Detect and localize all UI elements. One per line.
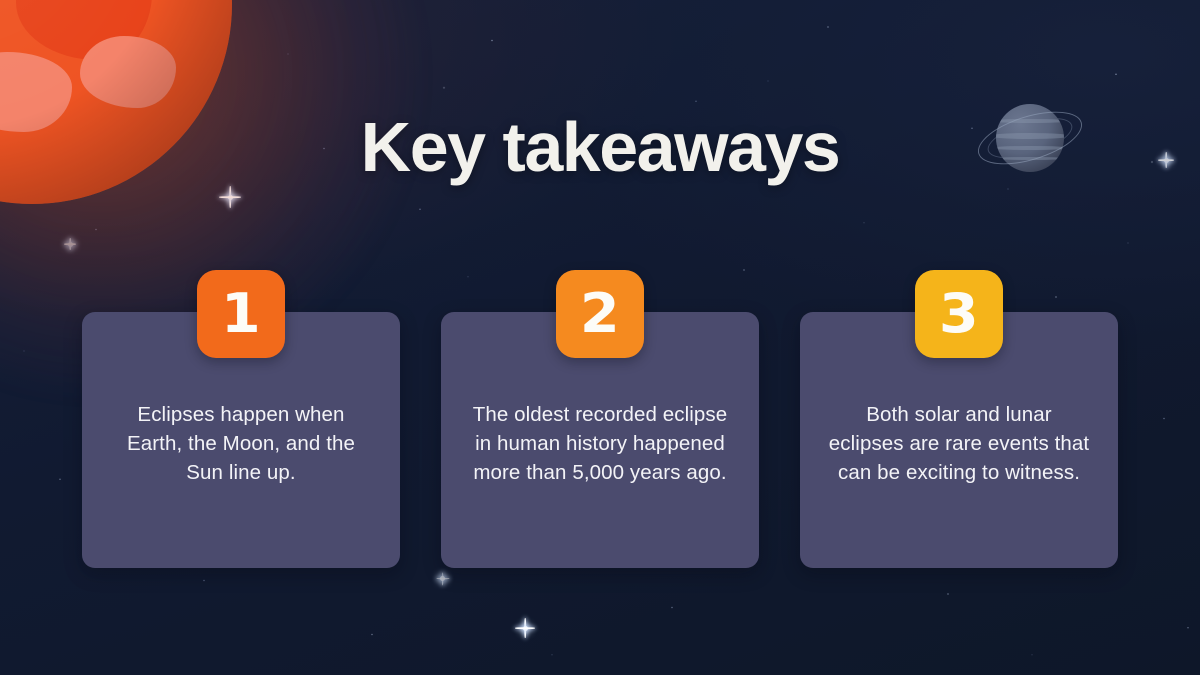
sparkle-star-icon <box>64 238 76 250</box>
card-body-text: The oldest recorded eclipse in human his… <box>467 400 733 487</box>
card-number-badge: 2 <box>556 270 644 358</box>
slide-canvas: Key takeaways 1 Eclipses happen when Ear… <box>0 0 1200 675</box>
sparkle-star-icon <box>219 186 241 208</box>
takeaway-card: 1 Eclipses happen when Earth, the Moon, … <box>82 312 400 568</box>
card-number: 2 <box>580 287 621 341</box>
page-title: Key takeaways <box>0 112 1200 182</box>
card-body-text: Eclipses happen when Earth, the Moon, an… <box>108 400 374 487</box>
card-number-badge: 1 <box>197 270 285 358</box>
takeaway-card: 2 The oldest recorded eclipse in human h… <box>441 312 759 568</box>
card-number: 1 <box>221 287 262 341</box>
takeaway-card-list: 1 Eclipses happen when Earth, the Moon, … <box>82 312 1118 568</box>
sparkle-star-icon <box>515 618 535 638</box>
card-body-text: Both solar and lunar eclipses are rare e… <box>826 400 1092 487</box>
card-number-badge: 3 <box>915 270 1003 358</box>
sparkle-star-icon <box>436 572 449 585</box>
card-number: 3 <box>939 287 980 341</box>
takeaway-card: 3 Both solar and lunar eclipses are rare… <box>800 312 1118 568</box>
